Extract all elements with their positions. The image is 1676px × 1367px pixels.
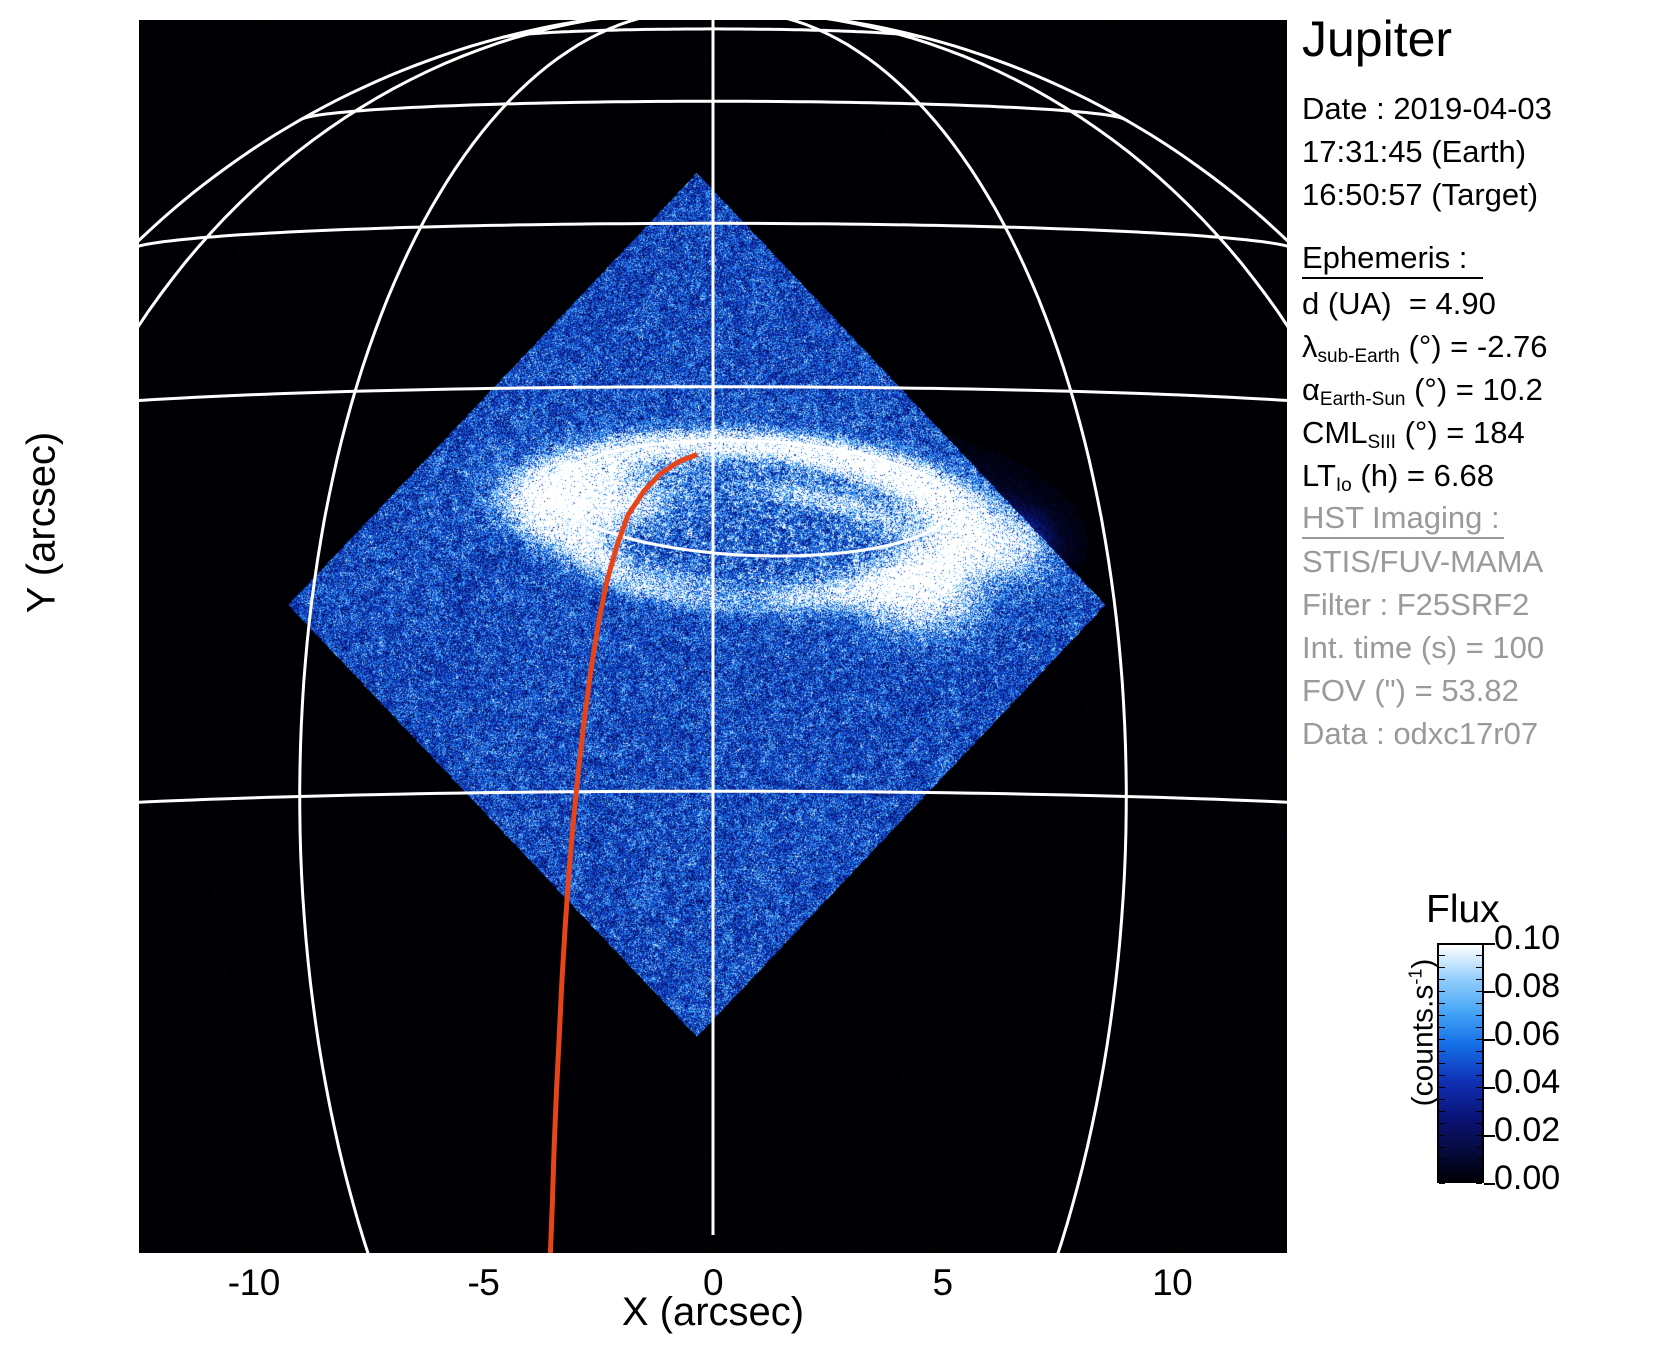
page-title: Jupiter bbox=[1302, 14, 1452, 64]
colorbar-tick-label: 0.02 bbox=[1494, 1113, 1560, 1147]
colorbar-minor-tick bbox=[1439, 1063, 1445, 1064]
colorbar-minor-tick bbox=[1439, 1003, 1445, 1004]
colorbar-minor-tick bbox=[1476, 1027, 1482, 1028]
colorbar-minor-tick bbox=[1476, 1159, 1482, 1160]
y-tick-mark bbox=[139, 183, 157, 187]
colorbar-minor-tick bbox=[1439, 1159, 1445, 1160]
graticule-line bbox=[139, 20, 688, 1253]
y-tick-mark bbox=[139, 1154, 157, 1158]
colorbar-minor-tick bbox=[1476, 1003, 1482, 1004]
colorbar-minor-tick bbox=[1476, 1051, 1482, 1052]
ephemeris-row-unit: (°) bbox=[1409, 329, 1442, 364]
colorbar-minor-tick bbox=[1476, 1147, 1482, 1148]
observation-time-earth: 17:31:45 (Earth) bbox=[1302, 136, 1526, 167]
ephemeris-row-value bbox=[1400, 329, 1409, 364]
colorbar-minor-tick bbox=[1439, 1171, 1445, 1172]
image-plot-area bbox=[139, 20, 1287, 1253]
x-tick-mark bbox=[481, 1235, 485, 1253]
hst-data-id: Data : odxc17r07 bbox=[1302, 718, 1538, 749]
x-tick-mark bbox=[711, 1235, 715, 1253]
ephemeris-row-label: CML bbox=[1302, 415, 1367, 450]
colorbar-tick-label: 0.04 bbox=[1494, 1065, 1560, 1099]
colorbar-minor-tick bbox=[1476, 1123, 1482, 1124]
x-tick-mark bbox=[941, 1235, 945, 1253]
colorbar-minor-tick bbox=[1476, 1111, 1482, 1112]
colorbar-minor-tick bbox=[1476, 955, 1482, 956]
colorbar-minor-tick bbox=[1439, 991, 1445, 992]
observation-time-target: 16:50:57 (Target) bbox=[1302, 179, 1538, 210]
ephemeris-row-unit: (°) bbox=[1414, 372, 1447, 407]
ephemeris-row-subscript: Io bbox=[1336, 475, 1352, 496]
y-tick-mark bbox=[139, 911, 157, 915]
colorbar-minor-tick bbox=[1439, 1111, 1445, 1112]
ephemeris-row-label: λ bbox=[1302, 329, 1318, 364]
colorbar-units-text: (counts.s bbox=[1407, 985, 1440, 1107]
colorbar-minor-tick bbox=[1476, 1135, 1482, 1136]
graticule-line bbox=[139, 845, 684, 1253]
ephemeris-row-value bbox=[1392, 286, 1401, 321]
y-tick-mark bbox=[139, 426, 157, 430]
hst-rule bbox=[1302, 537, 1504, 539]
colorbar-minor-tick bbox=[1476, 1015, 1482, 1016]
colorbar-minor-tick bbox=[1439, 1027, 1445, 1028]
ephemeris-row-label: d (UA) bbox=[1302, 286, 1392, 321]
hst-int-time: Int. time (s) = 100 bbox=[1302, 632, 1544, 663]
ephemeris-row-number: = -2.76 bbox=[1442, 329, 1548, 364]
colorbar-minor-tick bbox=[1476, 1183, 1482, 1184]
ephemeris-row-value bbox=[1405, 372, 1414, 407]
ephemeris-row-unit: (h) bbox=[1360, 458, 1398, 493]
y-tick-mark bbox=[139, 668, 157, 672]
ephemeris-row-subscript: sub-Earth bbox=[1318, 346, 1400, 367]
colorbar-minor-tick bbox=[1439, 1015, 1445, 1016]
colorbar-minor-tick bbox=[1476, 1099, 1482, 1100]
colorbar-minor-tick bbox=[1476, 1063, 1482, 1064]
ephemeris-row: λsub-Earth (°) = -2.76 bbox=[1302, 331, 1548, 362]
colorbar-minor-tick bbox=[1439, 1075, 1445, 1076]
colorbar-minor-tick bbox=[1439, 1087, 1445, 1088]
ephemeris-row-subscript: SIII bbox=[1367, 432, 1396, 453]
graticule-line bbox=[742, 845, 1287, 1253]
hst-fov: FOV (") = 53.82 bbox=[1302, 675, 1519, 706]
colorbar-minor-tick bbox=[1439, 1039, 1445, 1040]
colorbar-units-exponent: -1 bbox=[1406, 969, 1426, 985]
colorbar-tick-label: 0.10 bbox=[1494, 921, 1560, 955]
graticule-line bbox=[552, 440, 951, 556]
ephemeris-row-label: LT bbox=[1302, 458, 1336, 493]
io-footprint-track bbox=[550, 455, 697, 1254]
hst-filter: Filter : F25SRF2 bbox=[1302, 589, 1529, 620]
ephemeris-row: CMLSIII (°) = 184 bbox=[1302, 417, 1525, 448]
colorbar-units-label: (counts.s-1) bbox=[1406, 903, 1441, 1163]
colorbar-minor-tick bbox=[1439, 1147, 1445, 1148]
colorbar-minor-tick bbox=[1476, 1171, 1482, 1172]
colorbar-minor-tick bbox=[1476, 1039, 1482, 1040]
ephemeris-row: LTIo (h) = 6.68 bbox=[1302, 460, 1494, 491]
colorbar-minor-tick bbox=[1439, 1099, 1445, 1100]
hst-instrument: STIS/FUV-MAMA bbox=[1302, 546, 1543, 577]
y-axis-label: Y (arcsec) bbox=[20, 313, 65, 733]
colorbar-minor-tick bbox=[1476, 1075, 1482, 1076]
colorbar-units-paren: ) bbox=[1407, 959, 1440, 969]
colorbar-minor-tick bbox=[1439, 1135, 1445, 1136]
ephemeris-rule bbox=[1302, 277, 1483, 279]
colorbar-tick-label: 0.00 bbox=[1494, 1161, 1560, 1195]
graticule-line bbox=[738, 20, 1287, 1253]
x-axis-label: X (arcsec) bbox=[139, 1290, 1287, 1335]
colorbar-minor-tick bbox=[1439, 979, 1445, 980]
ephemeris-row-number: = 184 bbox=[1438, 415, 1525, 450]
graticule-line bbox=[727, 20, 1126, 1253]
colorbar-minor-tick bbox=[1439, 1123, 1445, 1124]
info-panel: Jupiter Date : 2019-04-03 17:31:45 (Eart… bbox=[1298, 0, 1676, 1367]
ephemeris-row: αEarth-Sun (°) = 10.2 bbox=[1302, 374, 1543, 405]
ephemeris-heading: Ephemeris : bbox=[1302, 240, 1467, 276]
colorbar-minor-tick bbox=[1476, 967, 1482, 968]
ephemeris-row-subscript: Earth-Sun bbox=[1320, 389, 1406, 410]
ephemeris-row-number: = 10.2 bbox=[1447, 372, 1543, 407]
graticule-line bbox=[300, 20, 699, 1253]
x-tick-mark bbox=[252, 1235, 256, 1253]
ephemeris-row-label: α bbox=[1302, 372, 1320, 407]
ephemeris-row: d (UA) = 4.90 bbox=[1302, 288, 1496, 319]
colorbar-minor-tick bbox=[1476, 979, 1482, 980]
coordinate-grid-overlay bbox=[139, 20, 1287, 1253]
colorbar-minor-tick bbox=[1476, 991, 1482, 992]
observation-date: Date : 2019-04-03 bbox=[1302, 93, 1552, 124]
ephemeris-row-unit: (°) bbox=[1405, 415, 1438, 450]
ephemeris-row-number: = 6.68 bbox=[1398, 458, 1494, 493]
colorbar-minor-tick bbox=[1439, 943, 1445, 944]
colorbar-minor-tick bbox=[1476, 943, 1482, 944]
colorbar-minor-tick bbox=[1439, 967, 1445, 968]
hst-heading: HST Imaging : bbox=[1302, 500, 1500, 536]
x-tick-mark bbox=[1170, 1235, 1174, 1253]
colorbar-minor-tick bbox=[1439, 1183, 1445, 1184]
ephemeris-row-value bbox=[1396, 415, 1405, 450]
colorbar-minor-tick bbox=[1439, 1051, 1445, 1052]
ephemeris-row-number: = 4.90 bbox=[1400, 286, 1496, 321]
colorbar-minor-tick bbox=[1439, 955, 1445, 956]
colorbar-minor-tick bbox=[1476, 1087, 1482, 1088]
colorbar-tick-label: 0.08 bbox=[1494, 969, 1560, 1003]
colorbar-tick-label: 0.06 bbox=[1494, 1017, 1560, 1051]
